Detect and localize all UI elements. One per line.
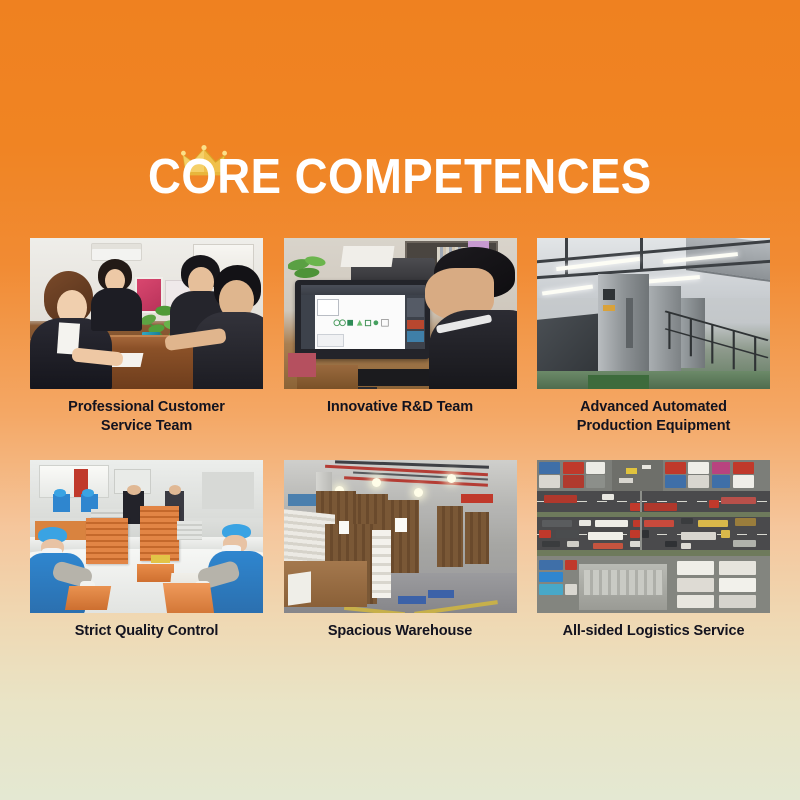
caption-line: Strict Quality Control bbox=[30, 622, 263, 641]
competence-card[interactable]: Innovative R&D Team bbox=[284, 238, 517, 435]
caption-line: Service Team bbox=[30, 417, 263, 436]
caption-line: Spacious Warehouse bbox=[284, 622, 517, 641]
professional-customer-service-team-photo bbox=[30, 238, 263, 389]
card-caption: Advanced Automated Production Equipment bbox=[537, 398, 770, 435]
page-title: CORE COMPETENCES bbox=[148, 152, 652, 203]
caption-line: Production Equipment bbox=[537, 417, 770, 436]
competence-grid: Professional Customer Service Team bbox=[30, 238, 770, 641]
card-caption: Innovative R&D Team bbox=[284, 398, 517, 417]
competence-row: Strict Quality Control bbox=[30, 460, 770, 641]
competence-row: Professional Customer Service Team bbox=[30, 238, 770, 435]
innovative-rd-team-photo bbox=[284, 238, 517, 389]
strict-quality-control-photo bbox=[30, 460, 263, 613]
competence-card[interactable]: Spacious Warehouse bbox=[284, 460, 517, 641]
competence-card[interactable]: Advanced Automated Production Equipment bbox=[537, 238, 770, 435]
competence-card[interactable]: Professional Customer Service Team bbox=[30, 238, 263, 435]
caption-line: Advanced Automated bbox=[537, 398, 770, 417]
caption-line: All-sided Logistics Service bbox=[537, 622, 770, 641]
card-caption: Spacious Warehouse bbox=[284, 622, 517, 641]
all-sided-logistics-service-photo bbox=[537, 460, 770, 613]
spacious-warehouse-photo bbox=[284, 460, 517, 613]
card-caption: Strict Quality Control bbox=[30, 622, 263, 641]
competence-card[interactable]: Strict Quality Control bbox=[30, 460, 263, 641]
page-title-block: CORE COMPETENCES bbox=[0, 152, 800, 203]
competence-card[interactable]: All-sided Logistics Service bbox=[537, 460, 770, 641]
advanced-automated-production-equipment-photo bbox=[537, 238, 770, 389]
caption-line: Innovative R&D Team bbox=[284, 398, 517, 417]
caption-line: Professional Customer bbox=[30, 398, 263, 417]
core-competences-banner: CORE COMPETENCES bbox=[0, 0, 800, 800]
card-caption: All-sided Logistics Service bbox=[537, 622, 770, 641]
card-caption: Professional Customer Service Team bbox=[30, 398, 263, 435]
